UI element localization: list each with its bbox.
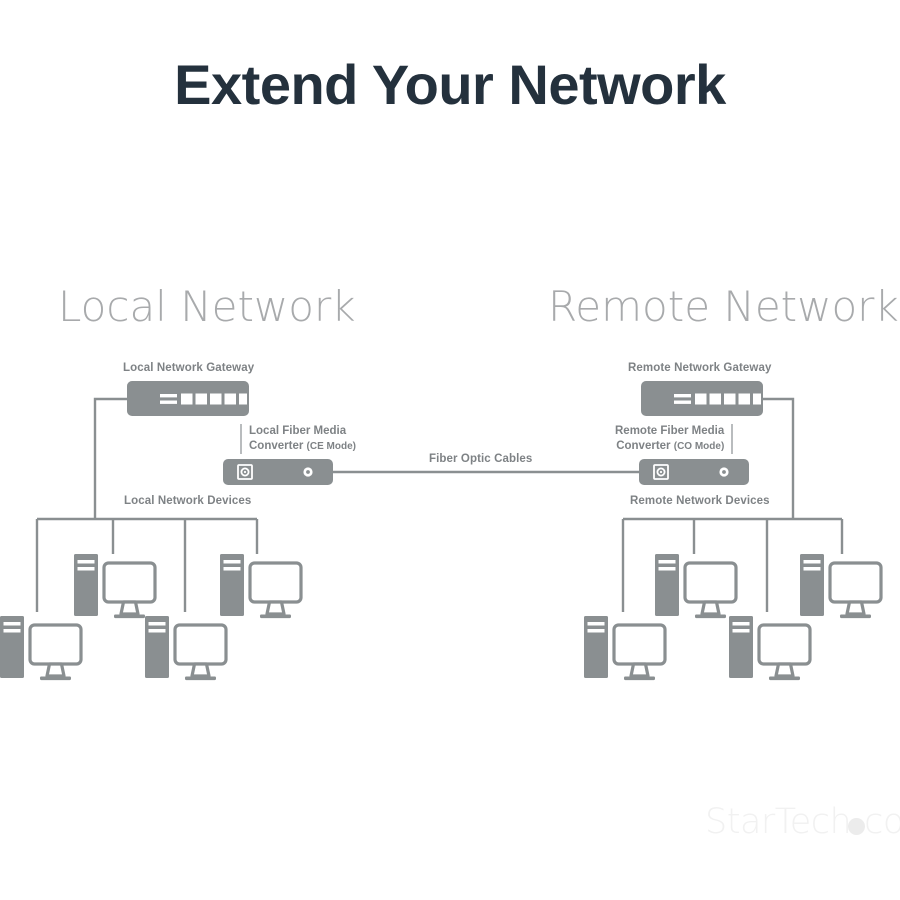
local-device-1 [0, 616, 81, 680]
local-fiber-media-converter [223, 459, 333, 485]
local-device-2 [74, 554, 155, 618]
remote-gateway-trunk-line [763, 399, 793, 519]
remote-device-3 [729, 616, 810, 680]
remote-network-gateway [641, 381, 763, 416]
local-device-4 [220, 554, 301, 618]
local-device-3 [145, 616, 226, 680]
remote-device-4 [800, 554, 881, 618]
network-diagram [0, 0, 900, 900]
remote-device-1 [584, 616, 665, 680]
local-network-gateway [127, 381, 249, 416]
diagram-canvas: Extend Your Network Local Network Remote… [0, 0, 900, 900]
local-gateway-trunk-line [95, 399, 127, 519]
remote-fiber-media-converter [639, 459, 749, 485]
remote-device-2 [655, 554, 736, 618]
